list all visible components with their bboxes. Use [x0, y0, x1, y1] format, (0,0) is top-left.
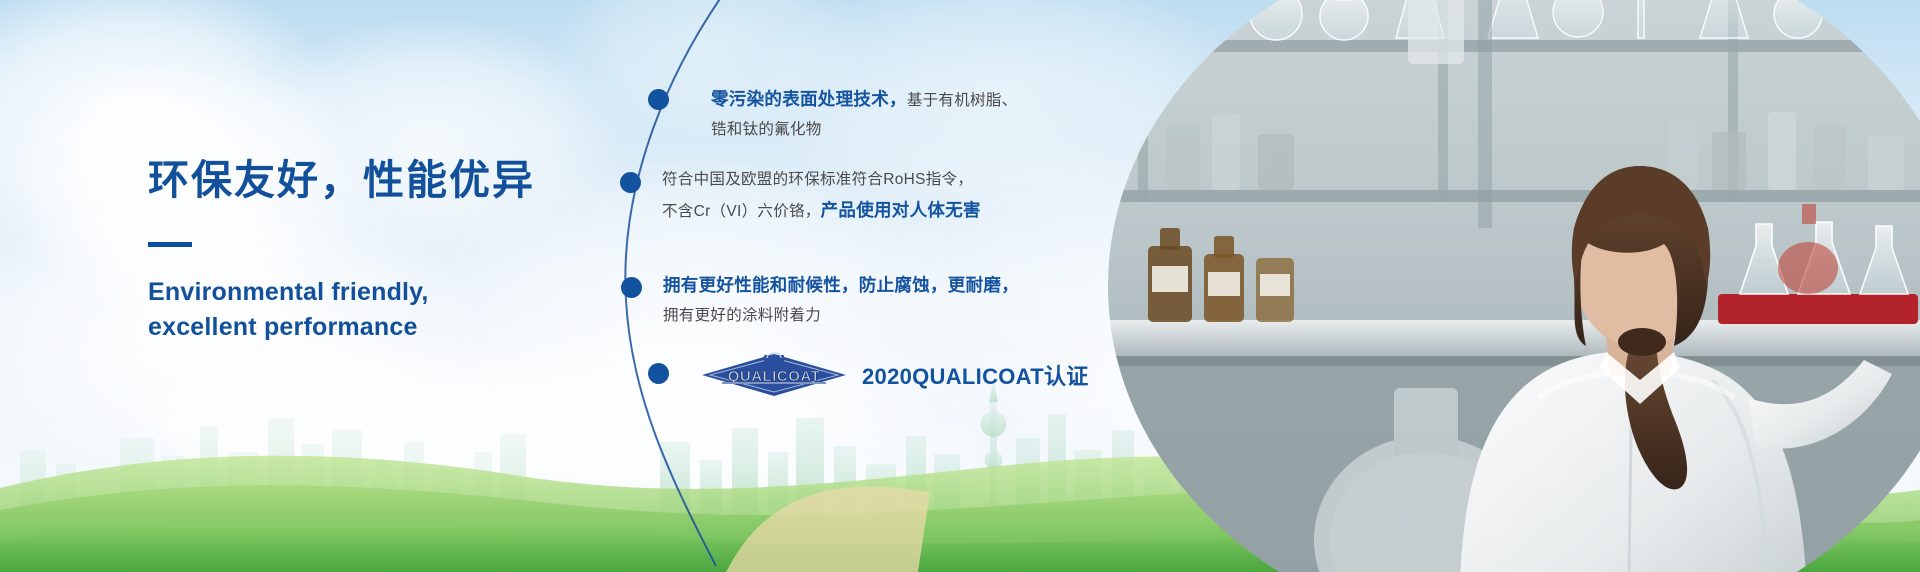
certification-label: 2020QUALICOAT认证	[862, 359, 1089, 391]
feature-2-line-2: 不含Cr（VI）六价铬，产品使用对人体无害	[662, 196, 1082, 224]
feature-2-line-1: 符合中国及欧盟的环保标准符合RoHS指令，	[662, 167, 1082, 192]
certification-row: QUALICOAT 2020QUALICOAT认证	[700, 352, 1100, 398]
feature-1-strong: 零污染的表面处理技术，	[711, 89, 907, 109]
lab-photo-circle	[1108, 0, 1920, 572]
laboratory-photo	[1108, 0, 1920, 572]
feature-item-3: 拥有更好性能和耐候性，防止腐蚀，更耐磨， 拥有更好的涂料附着力	[663, 271, 1083, 328]
feature-item-2: 符合中国及欧盟的环保标准符合RoHS指令， 不含Cr（VI）六价铬，产品使用对人…	[662, 167, 1082, 224]
feature-item-1: 零污染的表面处理技术，基于有机树脂、 锆和钛的氟化物	[711, 85, 1111, 142]
feature-3-line-2: 拥有更好的涂料附着力	[663, 303, 1083, 328]
feature-3-line-1: 拥有更好性能和耐候性，防止腐蚀，更耐磨，	[663, 271, 1083, 299]
feature-1-line-1: 零污染的表面处理技术，基于有机树脂、	[711, 85, 1111, 113]
feature-item-4: QUALICOAT 2020QUALICOAT认证	[700, 352, 1100, 398]
feature-1-normal: 基于有机树脂、	[907, 92, 1018, 109]
feature-2-strong: 产品使用对人体无害	[821, 200, 981, 220]
feature-list: 零污染的表面处理技术，基于有机树脂、 锆和钛的氟化物 符合中国及欧盟的环保标准符…	[0, 0, 1100, 572]
feature-1-line-2: 锆和钛的氟化物	[711, 117, 1111, 142]
qualicoat-logo-icon: QUALICOAT	[700, 352, 848, 398]
promotional-banner: 环保友好，性能优异 Environmental friendly, excell…	[0, 0, 1920, 572]
feature-2-normal: 不含Cr（VI）六价铬，	[662, 203, 821, 220]
